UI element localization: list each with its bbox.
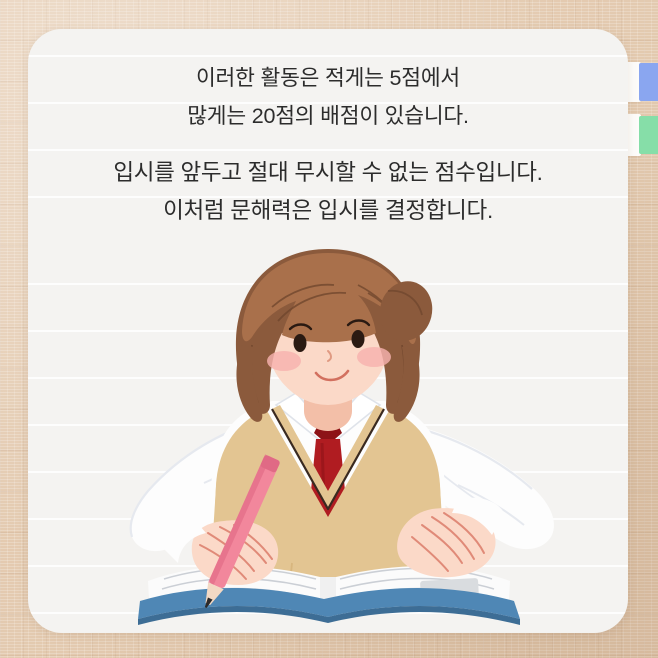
paragraph-scores-line-1: 이러한 활동은 적게는 5점에서 <box>28 59 628 97</box>
student-studying-illustration <box>28 233 628 633</box>
paragraph-scores-line-2: 많게는 20점의 배점이 있습니다. <box>28 97 628 135</box>
paragraph-scores: 이러한 활동은 적게는 5점에서 많게는 20점의 배점이 있습니다. <box>28 59 628 135</box>
left-blush <box>267 351 301 371</box>
green-index-tab[interactable] <box>639 116 658 154</box>
copy-block: 이러한 활동은 적게는 5점에서 많게는 20점의 배점이 있습니다. 입시를 … <box>28 59 628 230</box>
paragraph-conclusion: 입시를 앞두고 절대 무시할 수 없는 점수입니다. 이처럼 문해력은 입시를 … <box>28 154 628 230</box>
right-blush <box>357 347 391 367</box>
blue-index-tab[interactable] <box>639 63 658 101</box>
paragraph-conclusion-line-1: 입시를 앞두고 절대 무시할 수 없는 점수입니다. <box>28 154 628 192</box>
poster-canvas: 이러한 활동은 적게는 5점에서 많게는 20점의 배점이 있습니다. 입시를 … <box>0 0 658 658</box>
right-eye <box>352 330 365 348</box>
lined-note-card: 이러한 활동은 적게는 5점에서 많게는 20점의 배점이 있습니다. 입시를 … <box>28 29 628 633</box>
left-eye <box>294 334 307 352</box>
paragraph-conclusion-line-2: 이처럼 문해력은 입시를 결정합니다. <box>28 192 628 230</box>
